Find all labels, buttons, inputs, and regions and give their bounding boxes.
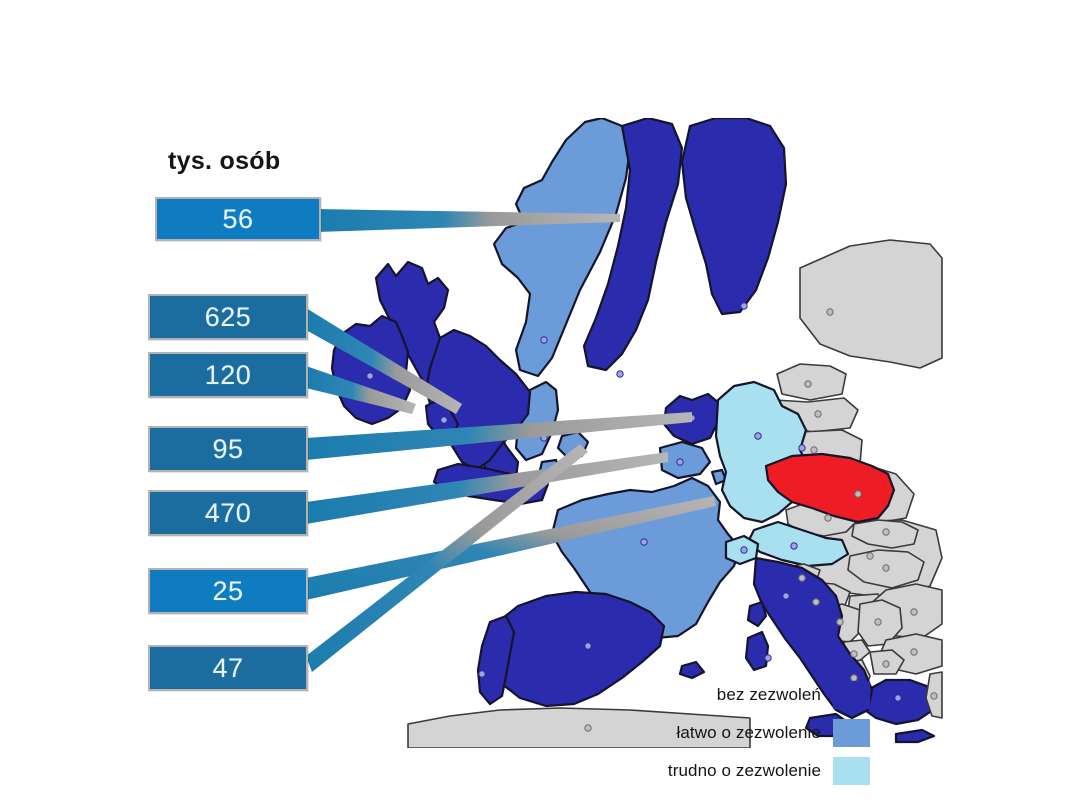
capital-dot-podgorica xyxy=(851,651,857,657)
callout-box[interactable]: 470 xyxy=(148,490,308,536)
callout-box[interactable]: 56 xyxy=(155,197,321,241)
callout-box[interactable]: 95 xyxy=(148,426,308,472)
legend-label: łatwo o zezwolenie xyxy=(677,723,822,743)
legend-swatch-hard-permit xyxy=(833,757,870,785)
callout-box[interactable]: 25 xyxy=(148,568,308,614)
callout-box[interactable]: 120 xyxy=(148,352,308,398)
infographic-map-canvas: tys. osób .c { stroke:#14142b; stroke-wi… xyxy=(0,0,1080,810)
region-sardinia xyxy=(746,632,768,670)
callout-value: 95 xyxy=(212,436,243,463)
callout-value: 25 xyxy=(212,578,243,605)
capital-dot-bucharest xyxy=(911,609,917,615)
capital-dot-athens xyxy=(895,695,901,701)
capital-dot-warsaw-marker xyxy=(799,445,805,451)
region-united-kingdom-south xyxy=(434,464,548,504)
legend-label: bez zezwoleń xyxy=(717,685,821,705)
capital-dot-berlin xyxy=(755,433,761,439)
legend: bez zezwoleń łatwo o zezwolenie trudno o… xyxy=(600,676,870,790)
region-belgium xyxy=(660,442,710,478)
capital-dot-copenhagen xyxy=(541,435,547,441)
capital-dot-oslo xyxy=(541,337,547,343)
capital-dot-amsterdam xyxy=(689,415,695,421)
capital-dot-sarajevo xyxy=(837,619,843,625)
legend-item[interactable]: bez zezwoleń xyxy=(600,676,870,714)
callout-value: 120 xyxy=(205,362,252,389)
capital-dot-bern xyxy=(741,547,747,553)
capital-dot-algiers xyxy=(585,725,591,731)
capital-dot-sofia xyxy=(911,649,917,655)
capital-dot-vienna xyxy=(791,543,797,549)
capital-dot-ljubljana xyxy=(799,575,805,581)
region-russia-east xyxy=(800,240,942,368)
capital-dot-minsk xyxy=(855,491,861,497)
region-ireland xyxy=(332,316,410,424)
region-portugal xyxy=(478,616,514,704)
region-greece-crete xyxy=(896,730,934,742)
callout-value: 56 xyxy=(222,206,253,233)
europe-map[interactable]: .c { stroke:#14142b; stroke-width:2.2; s… xyxy=(330,118,950,748)
legend-swatch-no-permit xyxy=(833,681,870,709)
legend-swatch-easy-permit xyxy=(833,719,870,747)
capital-dot-stockholm xyxy=(617,371,623,377)
region-united-kingdom-england xyxy=(426,330,530,470)
capital-dot-bratislava xyxy=(883,529,889,535)
legend-item[interactable]: trudno o zezwolenie xyxy=(600,752,870,790)
capital-dot-dublin xyxy=(367,373,373,379)
capital-dot-budapest xyxy=(883,565,889,571)
legend-item[interactable]: łatwo o zezwolenie xyxy=(600,714,870,752)
callout-value: 470 xyxy=(205,500,252,527)
region-corsica xyxy=(748,602,766,626)
capital-dot-cagliari xyxy=(765,655,771,661)
callout-value: 625 xyxy=(205,304,252,331)
callout-box[interactable]: 625 xyxy=(148,294,308,340)
region-greece xyxy=(862,680,936,724)
page-title: tys. osób xyxy=(168,147,280,176)
capital-dot-saint-petersburg xyxy=(827,309,833,315)
capital-dot-zagreb xyxy=(813,599,819,605)
capital-dot-prague xyxy=(825,515,831,521)
capital-dot-tallinn xyxy=(805,381,811,387)
capital-dot-rome xyxy=(783,593,789,599)
callout-value: 47 xyxy=(212,655,243,682)
capital-dot-ankara xyxy=(931,693,937,699)
capital-dot-belgrade xyxy=(875,619,881,625)
region-finland xyxy=(682,118,786,314)
capital-dot-brussels xyxy=(677,459,683,465)
capital-dot-kyiv xyxy=(867,553,873,559)
europe-map-svg: .c { stroke:#14142b; stroke-width:2.2; s… xyxy=(330,118,950,748)
capital-dot-lisbon xyxy=(479,671,485,677)
capital-dot-helsinki xyxy=(741,303,747,309)
capital-dot-madrid xyxy=(585,643,591,649)
callout-box[interactable]: 47 xyxy=(148,645,308,691)
capital-dot-riga xyxy=(815,411,821,417)
capital-dot-paris xyxy=(641,539,647,545)
region-denmark-island2 xyxy=(540,460,560,474)
region-denmark-zealand xyxy=(558,432,588,456)
capital-dot-london xyxy=(441,417,447,423)
legend-label: trudno o zezwolenie xyxy=(668,761,821,781)
capital-dot-skopje xyxy=(883,661,889,667)
region-poland-highlight xyxy=(766,454,894,522)
capital-dot-vilnius xyxy=(811,447,817,453)
region-estonia xyxy=(777,364,846,400)
